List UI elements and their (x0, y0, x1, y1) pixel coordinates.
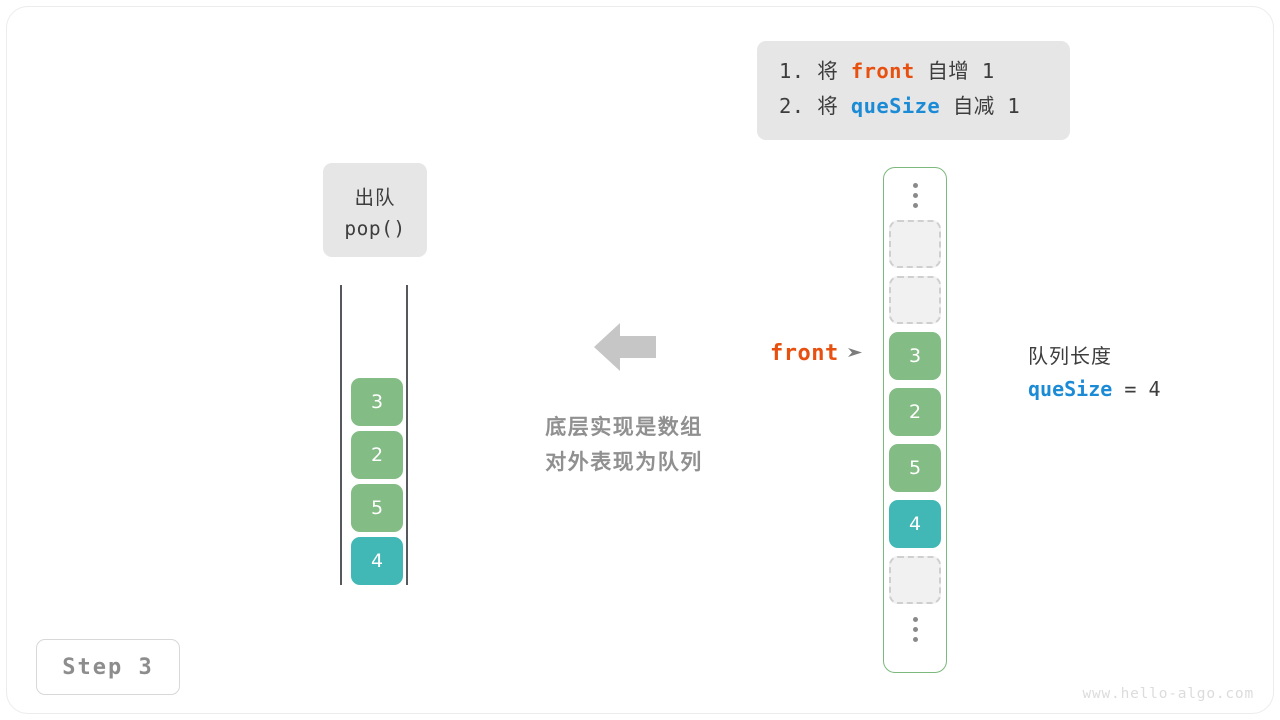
queue-cell: 5 (351, 484, 403, 532)
queue-cell-list: 3 2 5 4 (351, 378, 403, 585)
ellipsis-icon (889, 177, 941, 213)
array-slot: 2 (889, 388, 941, 436)
instruction-1-index: 1. (779, 59, 804, 83)
arrow-right-icon (848, 344, 863, 363)
operation-label-pop: 出队 pop() (323, 163, 427, 257)
watermark: www.hello-algo.com (1082, 686, 1254, 702)
queue-size-info: 队列长度 queSize = 4 (1028, 341, 1160, 406)
array-slot-empty (889, 276, 941, 324)
operation-label-title: 出队 (354, 181, 395, 210)
queue-view: 3 2 5 4 (340, 285, 412, 585)
array-slot: 4 (889, 500, 941, 548)
instruction-line-2: 2. 将 queSize 自减 1 (779, 89, 1048, 124)
front-pointer-label: front (770, 341, 839, 366)
queue-cell: 2 (351, 431, 403, 479)
queue-size-title: 队列长度 (1028, 341, 1160, 372)
instruction-2-value: 1 (1007, 94, 1020, 118)
queue-rail-left (340, 285, 342, 585)
queue-size-expression: queSize = 4 (1028, 372, 1160, 406)
explanation-caption: 底层实现是数组 对外表现为队列 (524, 410, 724, 480)
instruction-callout: 1. 将 front 自增 1 2. 将 queSize 自减 1 (757, 41, 1070, 140)
instruction-line-1: 1. 将 front 自增 1 (779, 54, 1048, 89)
ellipsis-icon (889, 611, 941, 647)
instruction-2-index: 2. (779, 94, 804, 118)
queue-size-equals: = (1124, 377, 1136, 401)
queue-cell: 3 (351, 378, 403, 426)
transform-arrow-icon (594, 322, 656, 372)
step-badge: Step 3 (36, 639, 180, 695)
operation-label-function: pop() (344, 217, 405, 240)
diagram-canvas: 1. 将 front 自增 1 2. 将 queSize 自减 1 出队 pop… (0, 0, 1280, 720)
queue-rail-right (406, 285, 408, 585)
array-slot-empty (889, 556, 941, 604)
instruction-1-suffix: 自增 (927, 59, 969, 83)
instruction-1-variable: front (851, 59, 915, 83)
instruction-2-prefix: 将 (817, 94, 838, 118)
front-pointer: front (770, 341, 863, 366)
instruction-2-variable: queSize (851, 94, 940, 118)
instruction-1-prefix: 将 (817, 59, 838, 83)
instruction-1-value: 1 (982, 59, 995, 83)
instruction-2-suffix: 自减 (953, 94, 995, 118)
queue-size-value: 4 (1148, 377, 1160, 401)
caption-line-1: 底层实现是数组 (524, 410, 724, 445)
array-slot: 3 (889, 332, 941, 380)
queue-size-variable: queSize (1028, 377, 1112, 401)
caption-line-2: 对外表现为队列 (524, 445, 724, 480)
array-view: 3 2 5 4 (883, 167, 947, 673)
array-slot-empty (889, 220, 941, 268)
queue-cell: 4 (351, 537, 403, 585)
array-slot: 5 (889, 444, 941, 492)
